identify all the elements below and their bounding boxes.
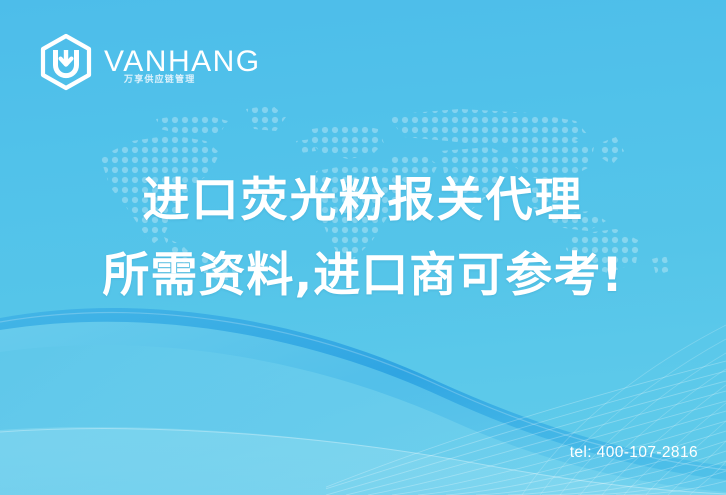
headline-line-2: 所需资料,进口商可参考! bbox=[0, 238, 726, 313]
headline-block: 进口荧光粉报关代理 所需资料,进口商可参考! bbox=[0, 163, 726, 313]
logo-subtitle: 万享供应链管理 bbox=[124, 72, 195, 85]
promotional-banner: VANHANG 万享供应链管理 进口荧光粉报关代理 所需资料,进口商可参考! t… bbox=[0, 0, 726, 495]
headline-line-1: 进口荧光粉报关代理 bbox=[0, 163, 726, 238]
contact-phone[interactable]: tel: 400-107-2816 bbox=[570, 444, 698, 462]
vanhang-hexagon-logo-icon bbox=[38, 33, 94, 91]
brand-logo[interactable]: VANHANG 万享供应链管理 bbox=[38, 33, 261, 91]
